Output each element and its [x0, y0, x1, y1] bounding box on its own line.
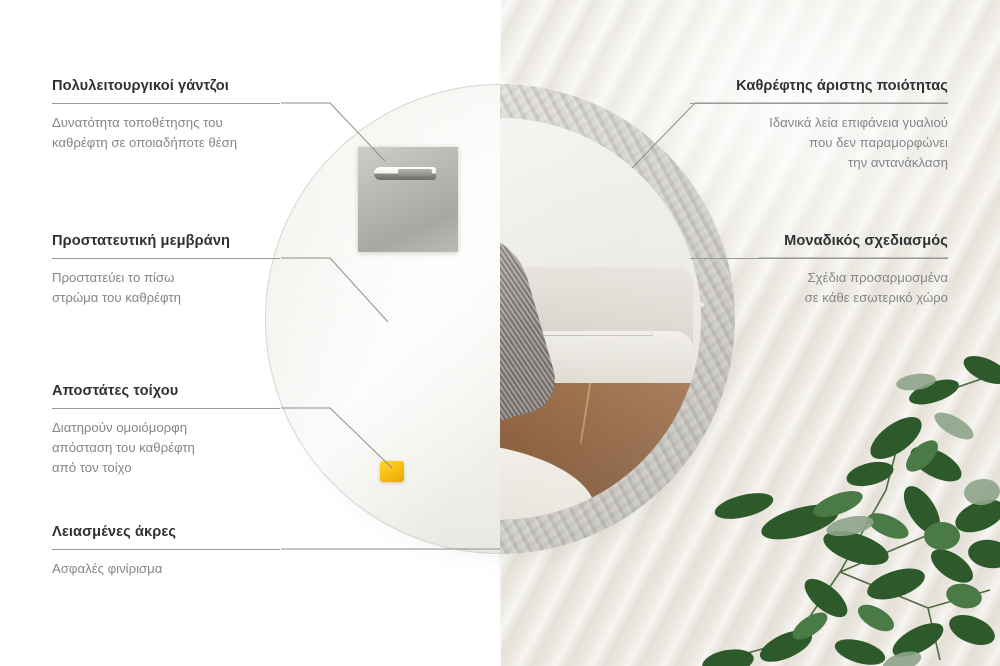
callout-unique-design: Μοναδικός σχεδιασμός Σχέδια προσαρμοσμέν…	[690, 233, 948, 308]
callout-unique-design-desc: Σχέδια προσαρμοσμένα σε κάθε εσωτερικό χ…	[690, 268, 948, 308]
callout-wall-spacers-title: Αποστάτες τοίχου	[52, 383, 280, 399]
callout-smoothed-edges-desc: Ασφαλές φινίρισμα	[52, 559, 280, 579]
callout-smoothed-edges: Λειασμένες άκρες Ασφαλές φινίρισμα	[52, 524, 280, 579]
callout-unique-design-title: Μοναδικός σχεδιασμός	[690, 233, 948, 249]
callout-smoothed-edges-title: Λειασμένες άκρες	[52, 524, 280, 540]
callout-hooks-desc: Δυνατότητα τοποθέτησης του καθρέφτη σε ο…	[52, 113, 280, 153]
callout-top-quality-mirror: Καθρέφτης άριστης ποιότητας Ιδανικά λεία…	[690, 78, 948, 173]
callout-top-quality-mirror-rule	[690, 103, 948, 104]
hook-plate	[358, 147, 458, 252]
callout-wall-spacers-desc: Διατηρούν ομοιόμορφη απόσταση του καθρέφ…	[52, 418, 280, 478]
callout-wall-spacers-rule	[52, 408, 280, 409]
callout-unique-design-rule	[690, 258, 948, 259]
callout-protective-membrane: Προστατευτική μεμβράνη Προστατεύει το πί…	[52, 233, 280, 308]
hook-slot-shadow	[398, 169, 432, 176]
foreground-plant	[690, 340, 1000, 666]
callout-hooks-rule	[52, 103, 280, 104]
callout-top-quality-mirror-desc: Ιδανικά λεία επιφάνεια γυαλιού που δεν π…	[690, 113, 948, 173]
callout-wall-spacers: Αποστάτες τοίχου Διατηρούν ομοιόμορφη απ…	[52, 383, 280, 478]
callout-hooks-title: Πολυλειτουργικοί γάντζοι	[52, 78, 280, 94]
callout-hooks: Πολυλειτουργικοί γάντζοι Δυνατότητα τοπο…	[52, 78, 280, 153]
callout-top-quality-mirror-title: Καθρέφτης άριστης ποιότητας	[690, 78, 948, 94]
callout-protective-membrane-title: Προστατευτική μεμβράνη	[52, 233, 280, 249]
round-mirror	[265, 84, 735, 554]
infographic-canvas: Πολυλειτουργικοί γάντζοι Δυνατότητα τοπο…	[0, 0, 1000, 666]
wall-spacer-chip	[380, 461, 404, 482]
callout-smoothed-edges-rule	[52, 549, 280, 550]
callout-protective-membrane-rule	[52, 258, 280, 259]
callout-protective-membrane-desc: Προστατεύει το πίσω στρώμα του καθρέφτη	[52, 268, 280, 308]
